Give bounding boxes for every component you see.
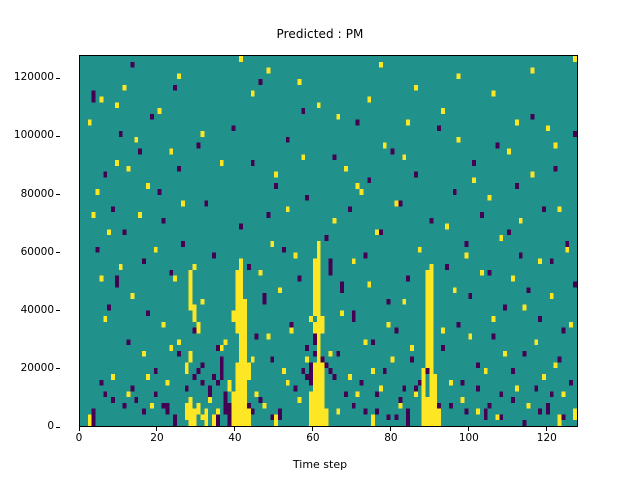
x-tick-mark: [156, 427, 157, 431]
x-tick-mark: [234, 427, 235, 431]
x-tick-label: 120: [537, 432, 557, 444]
x-tick-label: 80: [384, 432, 397, 444]
y-tick-mark: [56, 78, 60, 79]
y-tick-mark: [56, 136, 60, 137]
x-tick-mark: [546, 427, 547, 431]
y-tick-label: 0: [47, 420, 54, 432]
y-tick-mark: [56, 368, 60, 369]
x-tick-mark: [390, 427, 391, 431]
x-tick-label: 40: [228, 432, 241, 444]
x-tick-mark: [312, 427, 313, 431]
y-tick-label: 120000: [14, 71, 54, 83]
y-tick-label: 100000: [14, 129, 54, 141]
chart-title: Predicted : PM: [0, 27, 640, 41]
x-tick-mark: [79, 427, 80, 431]
y-tick-mark: [56, 310, 60, 311]
y-tick-label: 80000: [21, 188, 54, 200]
y-tick-label: 40000: [21, 304, 54, 316]
y-tick-label: 20000: [21, 362, 54, 374]
matplotlib-figure: Predicted : PM Frequency (Hz) Time step …: [0, 0, 640, 480]
x-tick-label: 60: [306, 432, 319, 444]
x-tick-mark: [468, 427, 469, 431]
y-tick-mark: [56, 427, 60, 428]
y-tick-label: 60000: [21, 246, 54, 258]
x-axis-label: Time step: [0, 458, 640, 471]
heatmap-image: [80, 56, 577, 426]
y-tick-mark: [56, 252, 60, 253]
heatmap-axes: [79, 55, 578, 427]
x-tick-label: 20: [150, 432, 163, 444]
x-tick-label: 0: [76, 432, 83, 444]
x-tick-label: 100: [459, 432, 479, 444]
y-tick-mark: [56, 194, 60, 195]
